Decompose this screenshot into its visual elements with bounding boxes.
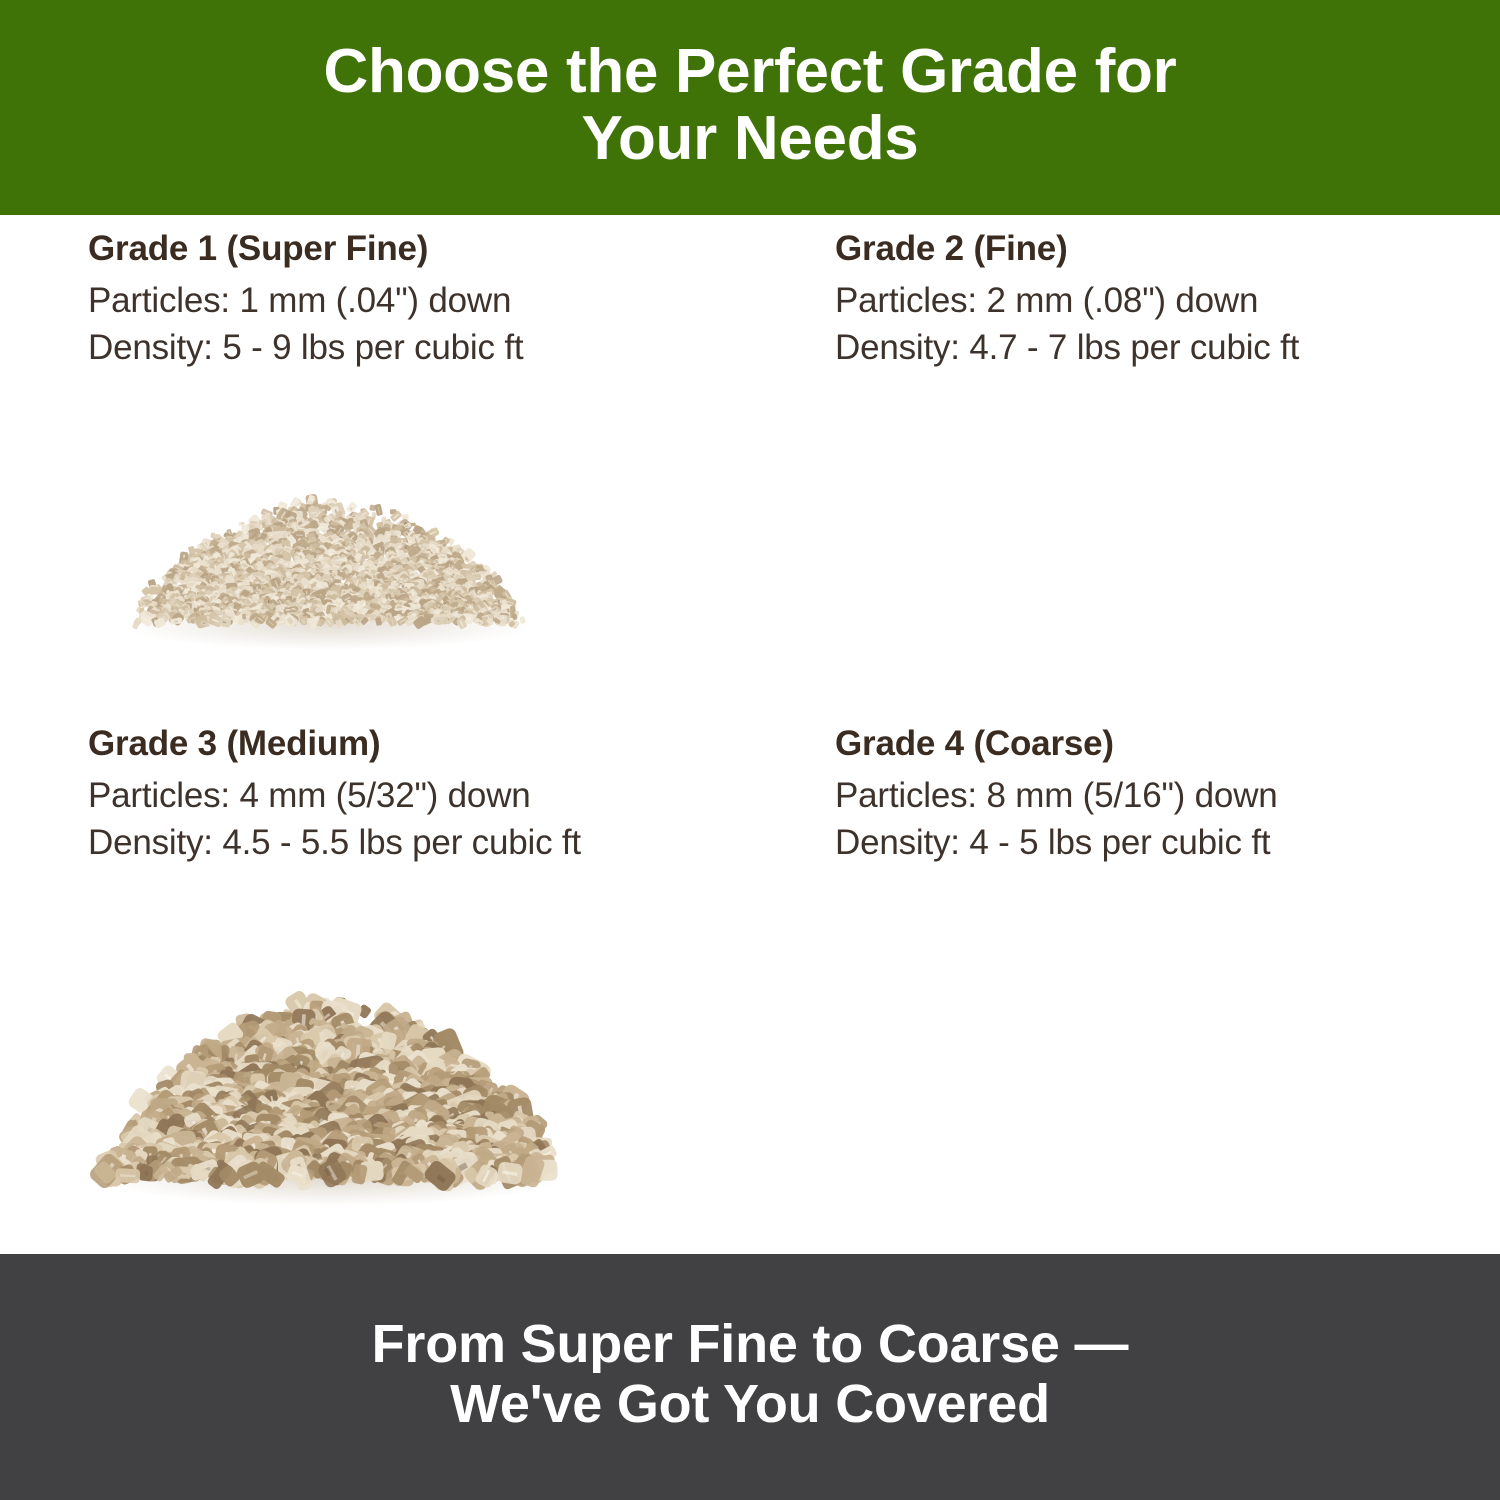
grades-grid: Grade 1 (Super Fine) Particles: 1 mm (.0… [0,215,1500,1254]
vermiculite-pile-grade-4-image [1440,915,1500,1215]
header-banner: Choose the Perfect Grade for Your Needs [0,0,1500,215]
infographic-page: Choose the Perfect Grade for Your Needs … [0,0,1500,1500]
footer-tagline-line-2: We've Got You Covered [450,1374,1050,1434]
grade-1-title: Grade 1 (Super Fine) [88,231,523,266]
vermiculite-pile-grade-1-image [78,400,578,665]
grade-3-density: Density: 4.5 - 5.5 lbs per cubic ft [88,820,581,867]
page-title: Choose the Perfect Grade for Your Needs [324,39,1177,176]
grade-3-particles: Particles: 4 mm (5/32") down [88,773,581,820]
grade-4-title: Grade 4 (Coarse) [835,726,1278,761]
grade-card-3-text: Grade 3 (Medium) Particles: 4 mm (5/32")… [88,726,581,866]
grade-card-3: Grade 3 (Medium) Particles: 4 mm (5/32")… [0,710,750,1230]
grade-1-particles: Particles: 1 mm (.04") down [88,278,523,325]
grade-4-density: Density: 4 - 5 lbs per cubic ft [835,820,1278,867]
footer-banner: From Super Fine to Coarse — We've Got Yo… [0,1254,1500,1500]
pile-1-svg [78,400,578,665]
grade-4-particles: Particles: 8 mm (5/16") down [835,773,1278,820]
footer-tagline-line-1: From Super Fine to Coarse — [372,1314,1129,1374]
page-title-line-1: Choose the Perfect Grade for [324,37,1177,106]
grade-3-title: Grade 3 (Medium) [88,726,581,761]
grade-card-1-text: Grade 1 (Super Fine) Particles: 1 mm (.0… [88,231,523,371]
grade-card-2-text: Grade 2 (Fine) Particles: 2 mm (.08") do… [835,231,1299,371]
grade-1-density: Density: 5 - 9 lbs per cubic ft [88,325,523,372]
grade-2-density: Density: 4.7 - 7 lbs per cubic ft [835,325,1299,372]
vermiculite-pile-grade-3-image [52,890,612,1215]
grade-card-4: Grade 4 (Coarse) Particles: 8 mm (5/16")… [750,710,1500,1230]
pile-4-svg [1440,915,1500,1215]
grade-2-title: Grade 2 (Fine) [835,231,1299,266]
footer-tagline: From Super Fine to Coarse — We've Got Yo… [372,1314,1129,1441]
grade-2-particles: Particles: 2 mm (.08") down [835,278,1299,325]
pile-3-svg [52,890,612,1215]
grade-card-4-text: Grade 4 (Coarse) Particles: 8 mm (5/16")… [835,726,1278,866]
page-title-line-2: Your Needs [582,104,919,173]
grade-card-2: Grade 2 (Fine) Particles: 2 mm (.08") do… [750,215,1500,735]
grade-card-1: Grade 1 (Super Fine) Particles: 1 mm (.0… [0,215,750,735]
